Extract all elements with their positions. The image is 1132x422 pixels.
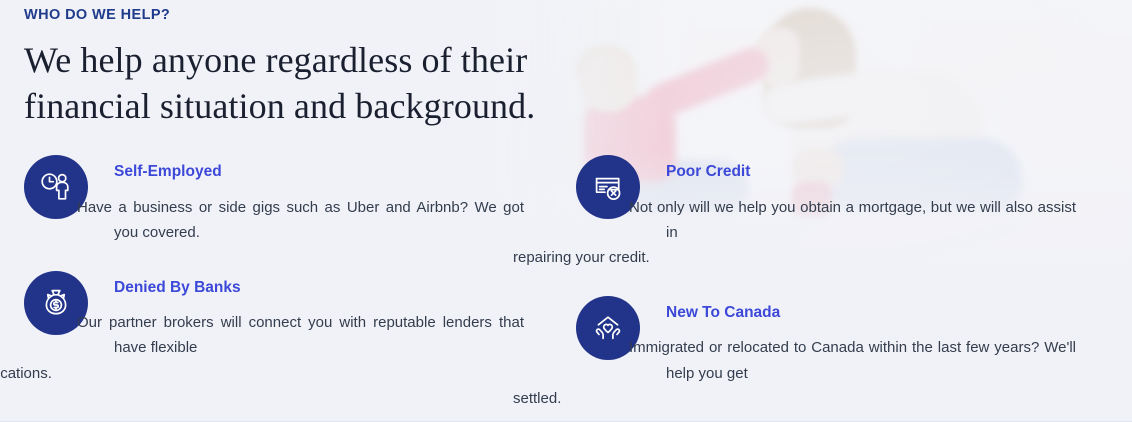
feature-column-right: Poor Credit Not only will we help you ob… xyxy=(576,153,1116,410)
who-do-we-help-section: WHO DO WE HELP? We help anyone regardles… xyxy=(0,0,1132,422)
feature-card-text-main: Have a business or side gigs such as Ube… xyxy=(77,199,524,241)
feature-card-title[interactable]: New To Canada xyxy=(666,304,1076,323)
feature-card-text-tail: settled. xyxy=(550,386,1076,411)
feature-card-body: Self-Employed Have a business or side gi… xyxy=(114,153,524,245)
feature-card-text-main: Our partner brokers will connect you wit… xyxy=(77,314,524,356)
feature-card-grid: Self-Employed Have a business or side gi… xyxy=(24,153,1108,410)
feature-card-body: Poor Credit Not only will we help you ob… xyxy=(666,153,1076,270)
feature-card-body: Denied By Banks Our partner brokers will… xyxy=(114,269,524,386)
feature-card-new-to-canada[interactable]: New To Canada Immigrated or relocated to… xyxy=(576,294,1116,411)
feature-card-text: Our partner brokers will connect you wit… xyxy=(114,310,524,385)
feature-card-text-tail: repairing your credit. xyxy=(550,245,1076,270)
section-eyebrow: WHO DO WE HELP? xyxy=(24,0,1108,23)
feature-card-title[interactable]: Poor Credit xyxy=(666,163,1076,182)
feature-card-title[interactable]: Self-Employed xyxy=(114,163,524,182)
feature-card-text-main: Immigrated or relocated to Canada within… xyxy=(629,339,1076,381)
feature-card-title[interactable]: Denied By Banks xyxy=(114,279,524,298)
feature-card-text: Have a business or side gigs such as Ube… xyxy=(114,195,524,245)
feature-card-poor-credit[interactable]: Poor Credit Not only will we help you ob… xyxy=(576,153,1116,270)
feature-card-body: New To Canada Immigrated or relocated to… xyxy=(666,294,1076,411)
feature-card-text: Not only will we help you obtain a mortg… xyxy=(666,195,1076,270)
feature-card-self-employed[interactable]: Self-Employed Have a business or side gi… xyxy=(24,153,564,245)
feature-card-text-main: Not only will we help you obtain a mortg… xyxy=(629,199,1076,241)
section-headline: We help anyone regardless of their finan… xyxy=(24,37,544,129)
feature-card-denied-by-banks[interactable]: Denied By Banks Our partner brokers will… xyxy=(24,269,564,386)
feature-card-text: Immigrated or relocated to Canada within… xyxy=(666,335,1076,410)
feature-card-text-tail: qualifications. xyxy=(0,361,524,386)
feature-column-left: Self-Employed Have a business or side gi… xyxy=(24,153,564,410)
section-content: WHO DO WE HELP? We help anyone regardles… xyxy=(0,0,1132,411)
